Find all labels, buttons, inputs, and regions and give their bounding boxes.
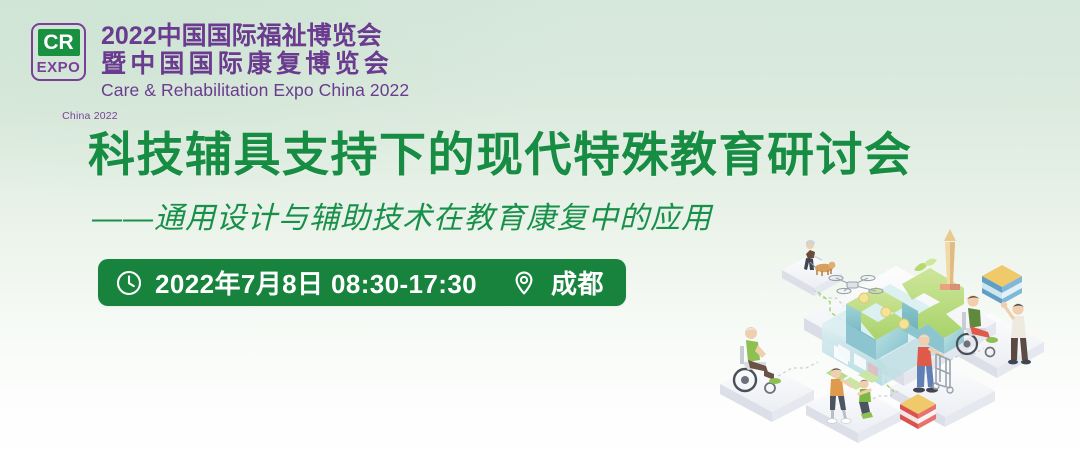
cr-mark-letters: CR — [43, 32, 73, 53]
event-info-pill: 2022年7月8日 08:30-17:30 成都 — [98, 259, 626, 306]
expo-title-cn-line2: 暨中国国际康复博览会 — [101, 51, 409, 78]
cr-expo-mark: CR EXPO — [31, 23, 86, 81]
expo-header-text: 2022中国国际福祉博览会 暨中国国际康复博览会 Care & Rehabili… — [101, 23, 409, 100]
cr-mark-square: CR — [38, 29, 80, 56]
book-stack-blue — [982, 265, 1022, 304]
clock-icon — [116, 270, 142, 296]
event-sub-title: ——通用设计与辅助技术在教育康复中的应用 — [92, 204, 712, 234]
event-datetime: 2022年7月8日 08:30-17:30 — [155, 264, 477, 301]
expo-logo-lockup: CR EXPO China 2022 2022中国国际福祉博览会 暨中国国际康复… — [31, 23, 409, 100]
cr-mark-caption: China 2022 — [55, 110, 125, 122]
cr-mark-expo-label: EXPO — [37, 60, 81, 75]
isometric-accessibility-scene — [718, 212, 1080, 459]
platform-tile — [806, 383, 901, 443]
event-city: 成都 — [551, 264, 604, 301]
expo-title-cn-line1: 2022中国国际福祉博览会 — [101, 23, 409, 50]
location-pin-icon — [511, 270, 537, 296]
event-banner: CR EXPO China 2022 2022中国国际福祉博览会 暨中国国际康复… — [0, 0, 1080, 459]
expo-title-en: Care & Rehabilitation Expo China 2022 — [101, 80, 409, 100]
event-main-title: 科技辅具支持下的现代特殊教育研讨会 — [88, 131, 913, 178]
